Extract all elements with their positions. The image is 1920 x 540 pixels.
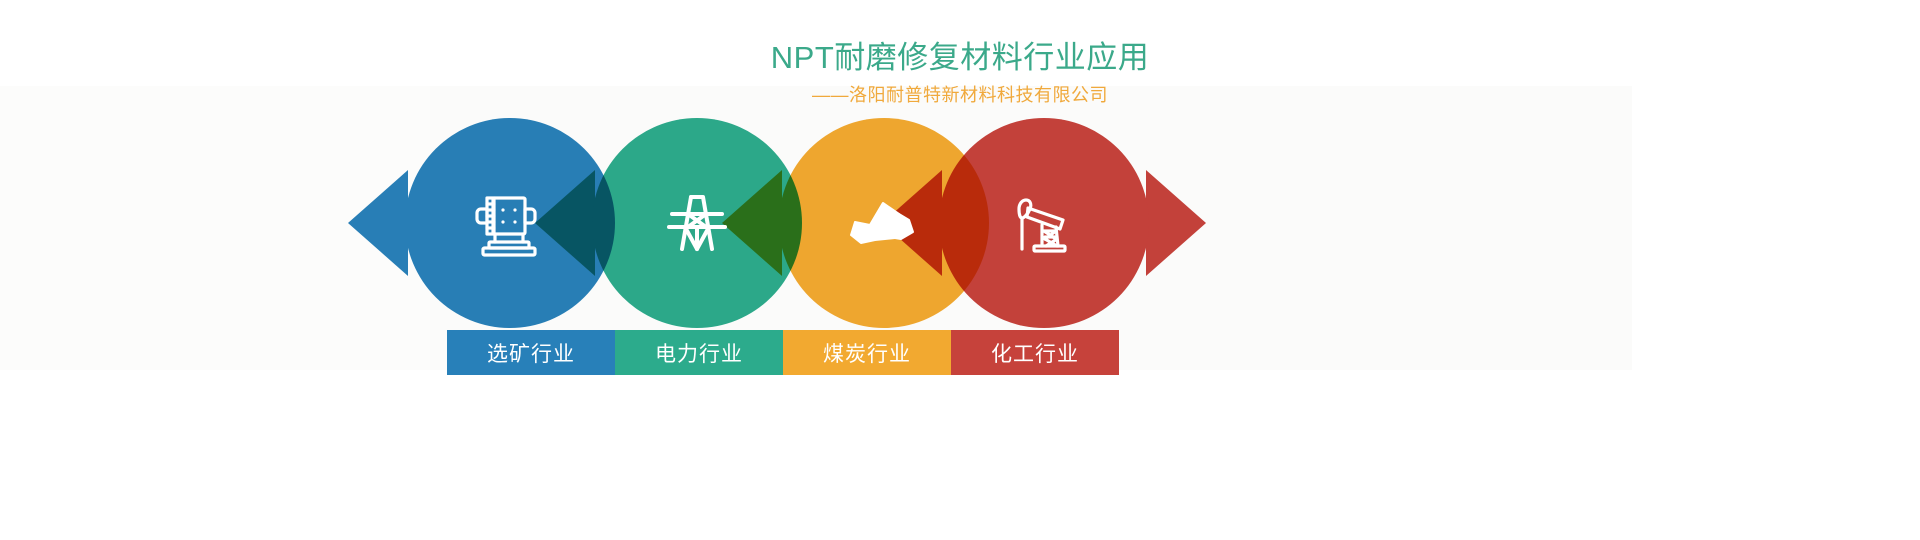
banner-graphic: NPT耐磨修复材料行业应用 ——洛阳耐普特新材料科技有限公司 — [0, 0, 1920, 540]
petal-disc — [939, 118, 1149, 328]
petal-tip — [348, 170, 408, 276]
label-chip-mineral-processing[interactable]: 选矿行业 — [447, 330, 615, 375]
petal-tip-right — [1146, 170, 1206, 276]
petal-chemical[interactable] — [939, 118, 1149, 328]
label-chip-chemical[interactable]: 化工行业 — [951, 330, 1119, 375]
petal-tip — [722, 170, 782, 276]
industry-label-bar: 选矿行业 电力行业 煤炭行业 化工行业 — [447, 330, 1119, 375]
label-chip-coal[interactable]: 煤炭行业 — [783, 330, 951, 375]
petal-tip — [535, 170, 595, 276]
petal-group — [405, 118, 1150, 328]
page-title: NPT耐磨修复材料行业应用 — [0, 38, 1920, 78]
petal-tip — [882, 170, 942, 276]
label-chip-power[interactable]: 电力行业 — [615, 330, 783, 375]
